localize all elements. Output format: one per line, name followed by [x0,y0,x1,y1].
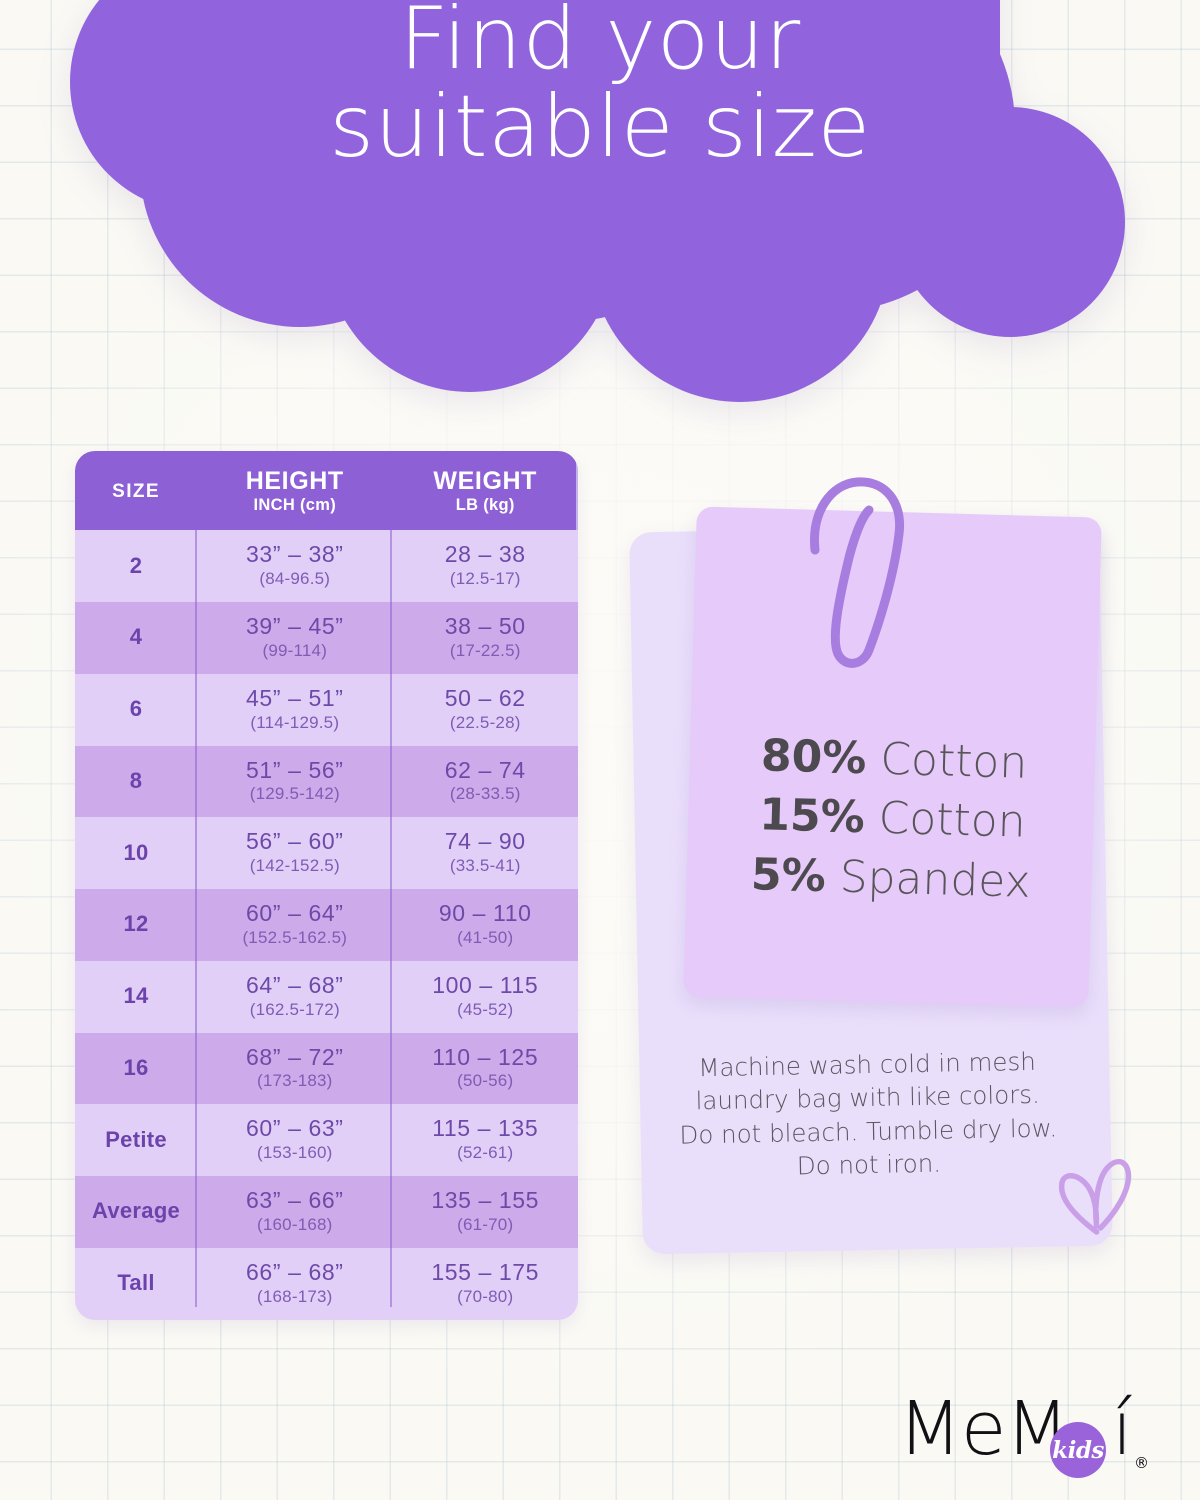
paperclip-icon [795,472,925,672]
cell-height: 60” – 63”(153-160) [197,1104,392,1176]
height-cm: (142-152.5) [199,856,390,876]
weight-kg: (50-56) [394,1071,576,1091]
fabric-composition: 80% Cotton 15% Cotton 5% Spandex [688,724,1098,913]
height-inches: 56” – 60” [199,829,390,855]
table-row: 1260” – 64”(152.5-162.5)90 – 110(41-50) [75,889,578,961]
cell-weight: 62 – 74(28-33.5) [392,746,578,818]
table-row: 233” – 38”(84-96.5)28 – 38(12.5-17) [75,530,578,602]
weight-kg: (12.5-17) [394,569,576,589]
cell-height: 33” – 38”(84-96.5) [197,530,392,602]
header-cloud: Find your suitable size [0,0,1200,402]
heart-icon [1047,1147,1149,1249]
height-cm: (99-114) [199,641,390,661]
weight-kg: (33.5-41) [394,856,576,876]
weight-lb: 62 – 74 [394,758,576,784]
height-inches: 60” – 63” [199,1116,390,1142]
size-chart-table: SIZE HEIGHT INCH (cm) WEIGHT LB (kg) 233… [75,451,578,1320]
cell-size: 4 [75,602,197,674]
height-inches: 39” – 45” [199,614,390,640]
composition-material: Spandex [839,851,1031,907]
height-cm: (129.5-142) [199,784,390,804]
weight-kg: (70-80) [394,1287,576,1307]
weight-kg: (41-50) [394,928,576,948]
column-header-size: SIZE [75,451,197,530]
size-value: Petite [77,1127,195,1153]
cell-size: 6 [75,674,197,746]
cell-weight: 50 – 62(22.5-28) [392,674,578,746]
weight-lb: 50 – 62 [394,686,576,712]
cell-height: 63” – 66”(160-168) [197,1176,392,1248]
size-value: 2 [77,553,195,579]
cell-weight: 90 – 110(41-50) [392,889,578,961]
column-header-height: HEIGHT INCH (cm) [197,451,392,530]
cell-size: 12 [75,889,197,961]
composition-material: Cotton [878,793,1026,848]
cell-weight: 38 – 50(17-22.5) [392,602,578,674]
weight-lb: 90 – 110 [394,901,576,927]
logo-wordmark: MeM [898,1392,1068,1466]
table-row: 1668” – 72”(173-183)110 – 125(50-56) [75,1033,578,1105]
table-row: 1056” – 60”(142-152.5)74 – 90(33.5-41) [75,817,578,889]
weight-kg: (45-52) [394,1000,576,1020]
cell-size: Tall [75,1248,197,1320]
weight-kg: (17-22.5) [394,641,576,661]
weight-kg: (61-70) [394,1215,576,1235]
table-row: 851” – 56”(129.5-142)62 – 74(28-33.5) [75,746,578,818]
size-value: 4 [77,624,195,650]
composition-row: 15% Cotton [689,784,1096,855]
height-inches: 33” – 38” [199,542,390,568]
height-cm: (114-129.5) [199,713,390,733]
size-value: 6 [77,696,195,722]
cell-weight: 100 – 115(45-52) [392,961,578,1033]
height-cm: (84-96.5) [199,569,390,589]
care-instructions: Machine wash cold in mesh laundry bag wi… [647,1044,1089,1186]
height-cm: (152.5-162.5) [199,928,390,948]
kids-badge-label: kids [1052,1437,1104,1464]
weight-lb: 135 – 155 [394,1188,576,1214]
cell-weight: 74 – 90(33.5-41) [392,817,578,889]
height-inches: 60” – 64” [199,901,390,927]
height-cm: (160-168) [199,1215,390,1235]
page-title: Find your suitable size [0,0,1200,171]
weight-lb: 115 – 135 [394,1116,576,1142]
cell-height: 64” – 68”(162.5-172) [197,961,392,1033]
cell-size: 2 [75,530,197,602]
table-row: Average63” – 66”(160-168)135 – 155(61-70… [75,1176,578,1248]
title-line-2: suitable size [0,84,1200,172]
cell-size: 16 [75,1033,197,1105]
weight-kg: (52-61) [394,1143,576,1163]
height-inches: 51” – 56” [199,758,390,784]
cell-size: 14 [75,961,197,1033]
composition-percent: 15% [759,790,866,844]
size-value: Tall [77,1270,195,1296]
brand-logo: MeM kids í ® [898,1392,1148,1484]
height-cm: (162.5-172) [199,1000,390,1020]
table-body: 233” – 38”(84-96.5)28 – 38(12.5-17)439” … [75,530,578,1319]
table-row: Tall66” – 68”(168-173)155 – 175(70-80) [75,1248,578,1320]
cell-weight: 155 – 175(70-80) [392,1248,578,1320]
size-value: 10 [77,840,195,866]
logo-wordmark-accent: í [1112,1392,1133,1466]
kids-badge: kids [1050,1422,1106,1478]
cell-height: 51” – 56”(129.5-142) [197,746,392,818]
table-row: 1464” – 68”(162.5-172)100 – 115(45-52) [75,961,578,1033]
registered-trademark-symbol: ® [1134,1454,1149,1472]
size-value: 12 [77,911,195,937]
weight-lb: 155 – 175 [394,1260,576,1286]
cell-size: Petite [75,1104,197,1176]
size-value: Average [77,1198,195,1224]
cell-height: 56” – 60”(142-152.5) [197,817,392,889]
cell-weight: 115 – 135(52-61) [392,1104,578,1176]
cell-size: 10 [75,817,197,889]
height-cm: (153-160) [199,1143,390,1163]
cell-size: 8 [75,746,197,818]
composition-material: Cotton [880,734,1028,789]
height-inches: 45” – 51” [199,686,390,712]
composition-percent: 80% [760,730,867,784]
weight-lb: 110 – 125 [394,1045,576,1071]
cell-height: 68” – 72”(173-183) [197,1033,392,1105]
size-value: 8 [77,768,195,794]
size-value: 14 [77,983,195,1009]
cell-weight: 135 – 155(61-70) [392,1176,578,1248]
weight-lb: 74 – 90 [394,829,576,855]
height-inches: 66” – 68” [199,1260,390,1286]
weight-lb: 28 – 38 [394,542,576,568]
height-inches: 68” – 72” [199,1045,390,1071]
cell-weight: 28 – 38(12.5-17) [392,530,578,602]
cell-weight: 110 – 125(50-56) [392,1033,578,1105]
cell-height: 66” – 68”(168-173) [197,1248,392,1320]
cell-size: Average [75,1176,197,1248]
size-value: 16 [77,1055,195,1081]
table-row: Petite60” – 63”(153-160)115 – 135(52-61) [75,1104,578,1176]
weight-kg: (28-33.5) [394,784,576,804]
cell-height: 45” – 51”(114-129.5) [197,674,392,746]
column-header-weight: WEIGHT LB (kg) [392,451,578,530]
table-row: 439” – 45”(99-114)38 – 50(17-22.5) [75,602,578,674]
table-header-row: SIZE HEIGHT INCH (cm) WEIGHT LB (kg) [75,451,578,530]
height-cm: (168-173) [199,1287,390,1307]
table-row: 645” – 51”(114-129.5)50 – 62(22.5-28) [75,674,578,746]
weight-kg: (22.5-28) [394,713,576,733]
cell-height: 60” – 64”(152.5-162.5) [197,889,392,961]
height-inches: 64” – 68” [199,973,390,999]
cell-height: 39” – 45”(99-114) [197,602,392,674]
weight-lb: 100 – 115 [394,973,576,999]
height-inches: 63” – 66” [199,1188,390,1214]
weight-lb: 38 – 50 [394,614,576,640]
height-cm: (173-183) [199,1071,390,1091]
composition-row: 5% Spandex [688,843,1095,914]
title-line-1: Find your [0,0,1200,84]
composition-percent: 5% [750,849,826,902]
